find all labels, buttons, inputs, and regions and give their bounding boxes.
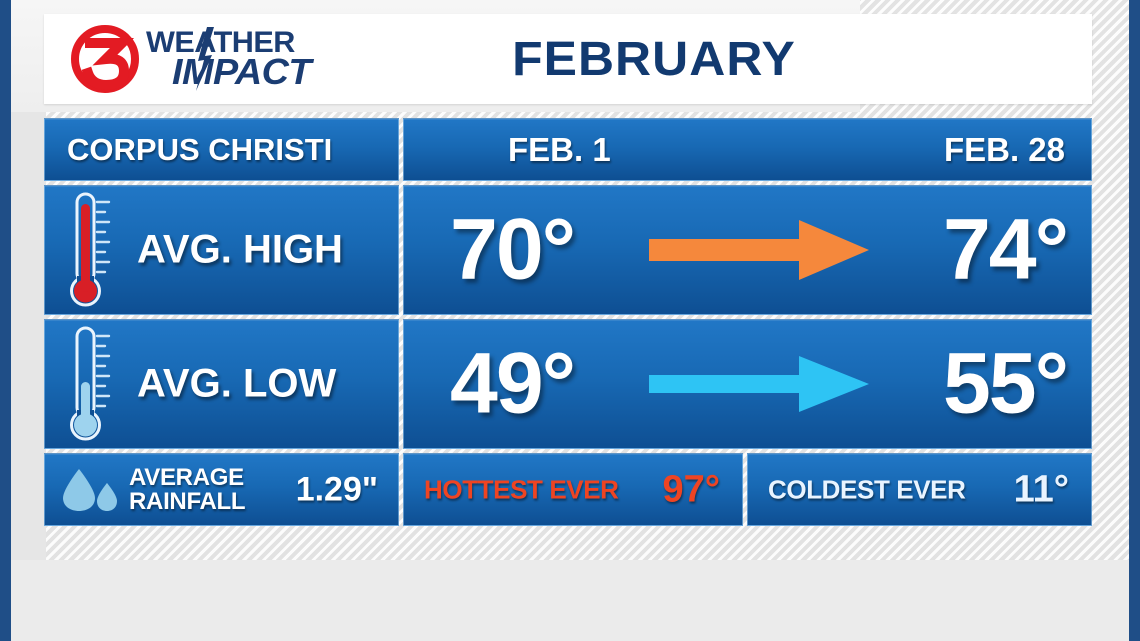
- hottest-ever-cell: HOTTEST EVER 97°: [403, 453, 743, 526]
- date-end-label: FEB. 28: [944, 131, 1065, 169]
- avg-high-end-value: 74°: [943, 201, 1067, 300]
- date-start-label: FEB. 1: [508, 131, 611, 169]
- arrow-right-icon-cold: [649, 352, 869, 416]
- logo-impact-text: IMPACT: [172, 54, 311, 90]
- table-header-dates: FEB. 1 FEB. 28: [403, 118, 1092, 181]
- coldest-ever-cell: COLDEST EVER 11°: [747, 453, 1092, 526]
- hottest-ever-label: HOTTEST EVER: [424, 474, 619, 505]
- background-panel-bottom: [0, 560, 1140, 641]
- avg-high-start-value: 70°: [450, 201, 574, 300]
- rainfall-label-line2: RAINFALL: [129, 488, 245, 515]
- thermometer-cold-icon: [61, 322, 123, 446]
- coldest-ever-value: 11°: [1014, 468, 1069, 511]
- city-label: CORPUS CHRISTI: [67, 132, 332, 168]
- table-row: AVG. HIGH: [44, 185, 399, 315]
- channel-3-icon: [66, 23, 144, 95]
- thermometer-hot-icon: [61, 188, 123, 312]
- right-edge-bar: [1129, 0, 1140, 641]
- average-rainfall-cell: AVERAGE RAINFALL 1.29": [44, 453, 399, 526]
- arrow-right-icon-hot: [649, 218, 869, 282]
- station-logo: WEATHER IMPACT: [66, 23, 366, 95]
- average-rainfall-label: AVERAGE RAINFALL: [129, 466, 245, 514]
- page-title: FEBRUARY: [354, 32, 953, 87]
- header-bar: WEATHER IMPACT FEBRUARY: [44, 14, 1092, 104]
- left-edge-bar: [0, 0, 11, 641]
- table-row-values-high: 70° 74°: [403, 185, 1092, 315]
- avg-low-start-value: 49°: [450, 335, 574, 434]
- coldest-ever-label: COLDEST EVER: [768, 474, 965, 505]
- avg-low-end-value: 55°: [943, 335, 1067, 434]
- row-label-avg-low: AVG. LOW: [137, 362, 336, 407]
- hottest-ever-value: 97°: [663, 468, 720, 511]
- table-header-city: CORPUS CHRISTI: [44, 118, 399, 181]
- table-row: AVG. LOW: [44, 319, 399, 449]
- weather-graphic: WEATHER IMPACT FEBRUARY CORPUS CHRISTI F…: [0, 0, 1140, 641]
- rainfall-label-line1: AVERAGE: [129, 464, 244, 491]
- row-label-avg-high: AVG. HIGH: [137, 228, 343, 273]
- average-rainfall-value: 1.29": [296, 470, 378, 509]
- water-drops-icon: [59, 467, 125, 513]
- table-row-values-low: 49° 55°: [403, 319, 1092, 449]
- logo-wordmark: WEATHER IMPACT: [146, 28, 304, 90]
- climate-table: CORPUS CHRISTI FEB. 1 FEB. 28: [44, 118, 1092, 526]
